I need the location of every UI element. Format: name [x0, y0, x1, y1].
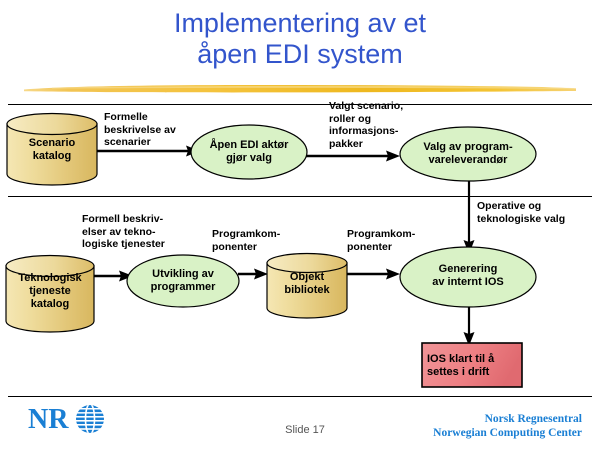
organization-name: Norsk Regnesentral Norwegian Computing C… [433, 412, 582, 440]
edge-programkomponenter-2-label: Programkom- ponenter [347, 228, 439, 253]
divider-middle [8, 196, 592, 197]
arrow-objekt-to-generering [346, 266, 402, 282]
node-objekt-bibliotek-label: Objekt bibliotek [266, 271, 348, 297]
node-valg-av-programvareleverandor-label: Valg av program- vareleverandør [399, 141, 537, 167]
title-accent-brushstroke [22, 82, 578, 95]
page-title: Implementering av et åpen EDI system [0, 8, 600, 70]
divider-top [8, 104, 592, 105]
slide-number: Slide 17 [255, 424, 355, 436]
node-apen-edi-aktor-label: Åpen EDI aktør gjør valg [190, 139, 308, 165]
edge-programkomponenter-1-label: Programkom- ponenter [212, 228, 302, 253]
svg-text:NR: NR [28, 404, 69, 435]
divider-bottom [8, 396, 592, 397]
node-ios-klart-label: IOS klart til å settes i drift [427, 353, 519, 379]
node-scenario-katalog-label: Scenario katalog [6, 137, 98, 163]
node-teknologisk-tjeneste-katalog-label: Teknologisk tjeneste katalog [5, 272, 95, 311]
arrow-programvare-to-generering [461, 180, 477, 256]
node-generering-internt-ios-label: Generering av internt IOS [399, 263, 537, 289]
edge-formelle-beskrivelse-label: Formelle beskrivelse av scenarier [104, 111, 204, 149]
arrow-aktor-to-programvare [306, 148, 402, 164]
edge-operative-teknologiske-label: Operative og teknologiske valg [477, 200, 597, 225]
slide-canvas: Implementering av et åpen EDI system [0, 0, 600, 450]
nr-logo: NR [28, 402, 110, 436]
node-utvikling-av-programmer-label: Utvikling av programmer [126, 268, 240, 294]
edge-formell-beskrivelser-label: Formell beskriv- elser av tekno- logiske… [82, 213, 214, 251]
